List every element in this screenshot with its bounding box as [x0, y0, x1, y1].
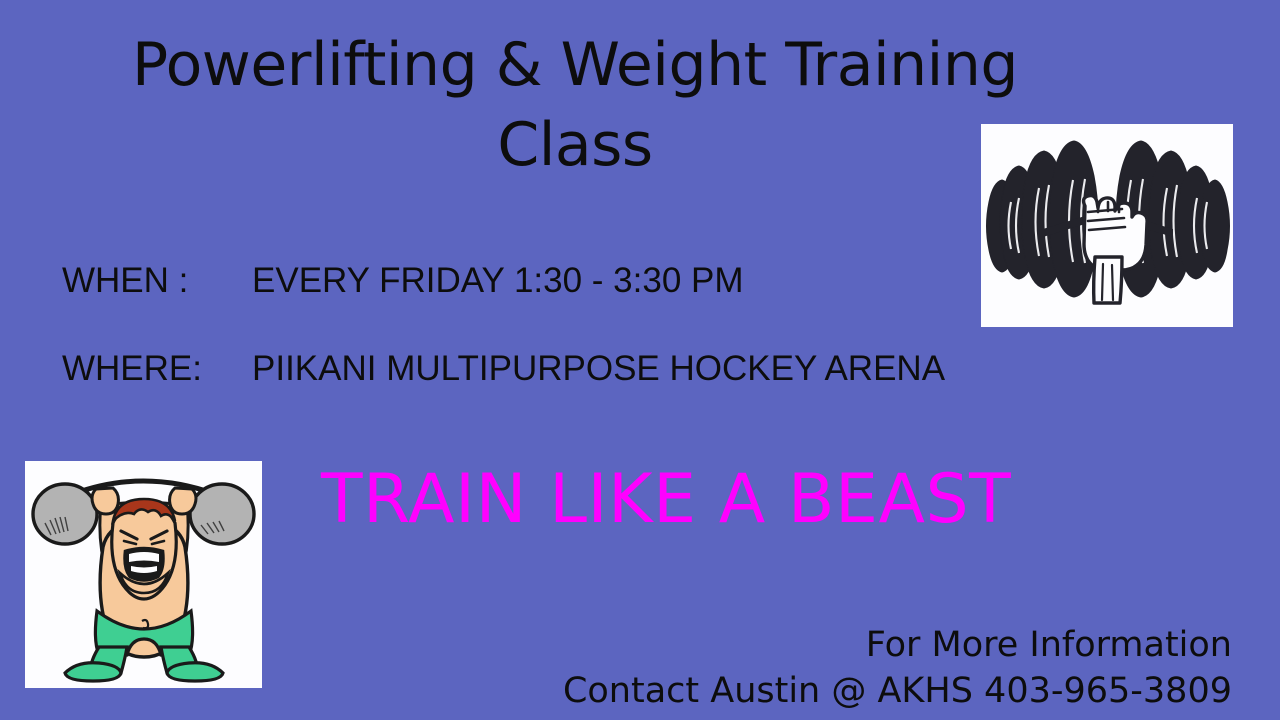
- detail-label-when: WHEN :: [62, 263, 252, 298]
- cartoon-weightlifter-image: [25, 461, 262, 688]
- title-line-1: Powerlifting & Weight Training: [60, 26, 1090, 106]
- detail-value-when: EVERY FRIDAY 1:30 - 3:30 PM: [252, 263, 744, 298]
- contact-details: Contact Austin @ AKHS 403-965-3809: [563, 668, 1232, 714]
- contact-block: For More Information Contact Austin @ AK…: [563, 622, 1232, 714]
- page-title: Powerlifting & Weight Training Class: [60, 26, 1090, 186]
- detail-row-where: WHERE:PIIKANI MULTIPURPOSE HOCKEY ARENA: [62, 351, 945, 386]
- detail-label-where: WHERE:: [62, 351, 252, 386]
- barbell-fist-image: [981, 124, 1233, 327]
- detail-row-when: WHEN :EVERY FRIDAY 1:30 - 3:30 PM: [62, 263, 744, 298]
- contact-heading: For More Information: [563, 622, 1232, 668]
- flyer-slide: Powerlifting & Weight Training Class: [0, 0, 1280, 720]
- slogan-text: TRAIN LIKE A BEAST: [321, 466, 1011, 534]
- detail-value-where: PIIKANI MULTIPURPOSE HOCKEY ARENA: [252, 351, 945, 386]
- title-line-2: Class: [60, 106, 1090, 186]
